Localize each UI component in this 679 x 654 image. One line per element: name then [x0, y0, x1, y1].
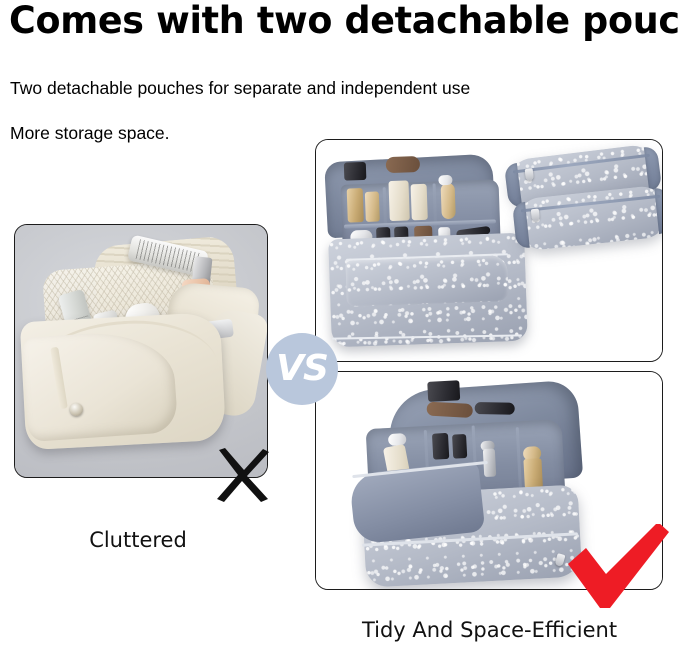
subtitle-line-2: More storage space. — [10, 123, 170, 144]
cream-bag-snap-button — [70, 403, 83, 416]
cosmetic-item — [426, 402, 473, 418]
cosmetic-item — [344, 162, 367, 181]
cluttered-product-panel — [14, 224, 268, 478]
cosmetic-item — [388, 180, 409, 221]
cosmetic-item — [523, 458, 543, 489]
cosmetic-item — [475, 402, 515, 415]
cluttered-bag-photo — [15, 225, 267, 477]
cosmetic-item — [388, 433, 407, 446]
versus-badge: VS — [266, 333, 338, 405]
cosmetic-item — [386, 156, 421, 173]
caption-cluttered: Cluttered — [0, 528, 276, 552]
pouch-zipper-pull — [525, 168, 534, 181]
x-mark-icon — [213, 446, 271, 504]
cosmetic-item — [441, 183, 456, 219]
check-mark-icon — [566, 524, 670, 610]
cosmetic-item — [438, 175, 452, 185]
organizer-front-flap — [345, 255, 509, 307]
organized-product-panel-top — [315, 139, 663, 362]
subtitle-line-1: Two detachable pouches for separate and … — [10, 78, 470, 99]
organized-bag-with-pouches-photo — [316, 140, 662, 361]
cosmetic-item — [347, 188, 364, 223]
pouch-zipper-pull — [531, 209, 540, 222]
cosmetic-item — [432, 433, 449, 460]
page-title: Comes with two detachable pouches — [9, 0, 661, 44]
cosmetic-item — [452, 434, 467, 459]
pouch-zipper — [521, 195, 660, 213]
cosmetic-item — [427, 380, 460, 402]
caption-tidy: Tidy And Space-Efficient — [316, 618, 663, 642]
compartment-divider — [433, 183, 438, 241]
versus-label: VS — [276, 351, 328, 387]
cosmetic-item — [411, 184, 428, 221]
cosmetic-item — [365, 191, 380, 221]
pouch-end-cap — [654, 187, 662, 234]
